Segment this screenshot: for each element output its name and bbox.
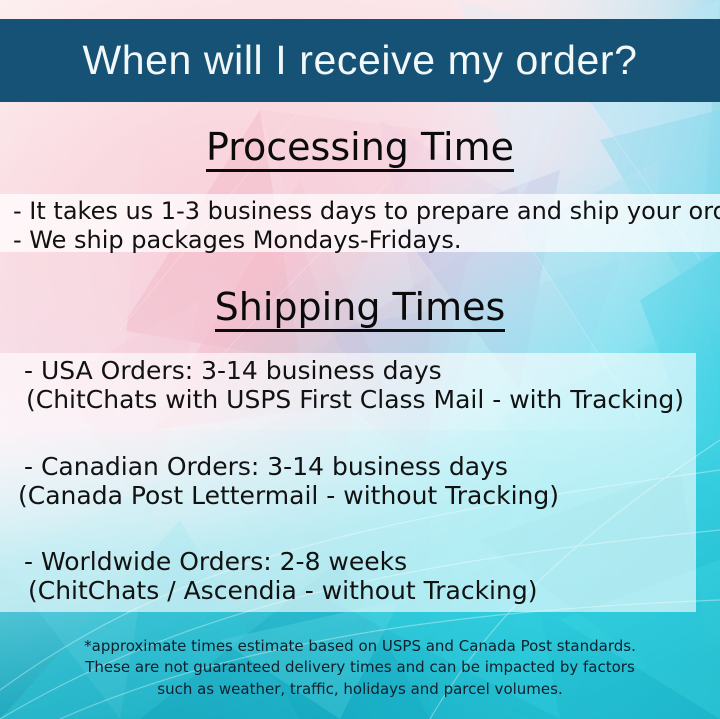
processing-time-heading: Processing Time <box>0 128 720 172</box>
processing-line-2: - We ship packages Mondays-Fridays. <box>13 228 462 252</box>
shipping-entry-canada-main: - Canadian Orders: 3-14 business days <box>0 452 700 481</box>
shipping-entry-usa: - USA Orders: 3-14 business days (ChitCh… <box>0 356 700 414</box>
shipping-entry-usa-sub: (ChitChats with USPS First Class Mail - … <box>0 385 700 414</box>
footnote-line-2: These are not guaranteed delivery times … <box>0 657 720 678</box>
disclaimer-footnote: *approximate times estimate based on USP… <box>0 636 720 700</box>
title-banner: When will I receive my order? <box>0 19 720 102</box>
shipping-entry-worldwide: - Worldwide Orders: 2-8 weeks (ChitChats… <box>0 547 700 605</box>
page-title: When will I receive my order? <box>82 40 637 81</box>
processing-time-heading-text: Processing Time <box>206 128 514 172</box>
shipping-entry-usa-main: - USA Orders: 3-14 business days <box>0 356 700 385</box>
shipping-entry-worldwide-main: - Worldwide Orders: 2-8 weeks <box>0 547 700 576</box>
poster-content: Processing Time - It takes us 1-3 busine… <box>0 0 720 719</box>
shipping-entry-canada-sub: (Canada Post Lettermail - without Tracki… <box>0 481 700 510</box>
footnote-line-1: *approximate times estimate based on USP… <box>0 636 720 657</box>
shipping-entry-canada: - Canadian Orders: 3-14 business days (C… <box>0 452 700 510</box>
shipping-times-heading-text: Shipping Times <box>215 288 506 332</box>
poster-canvas: When will I receive my order? Processing… <box>0 0 720 719</box>
shipping-times-heading: Shipping Times <box>0 288 720 332</box>
footnote-line-3: such as weather, traffic, holidays and p… <box>0 679 720 700</box>
processing-line-1: - It takes us 1-3 business days to prepa… <box>13 199 720 223</box>
shipping-entry-worldwide-sub: (ChitChats / Ascendia - without Tracking… <box>0 576 700 605</box>
